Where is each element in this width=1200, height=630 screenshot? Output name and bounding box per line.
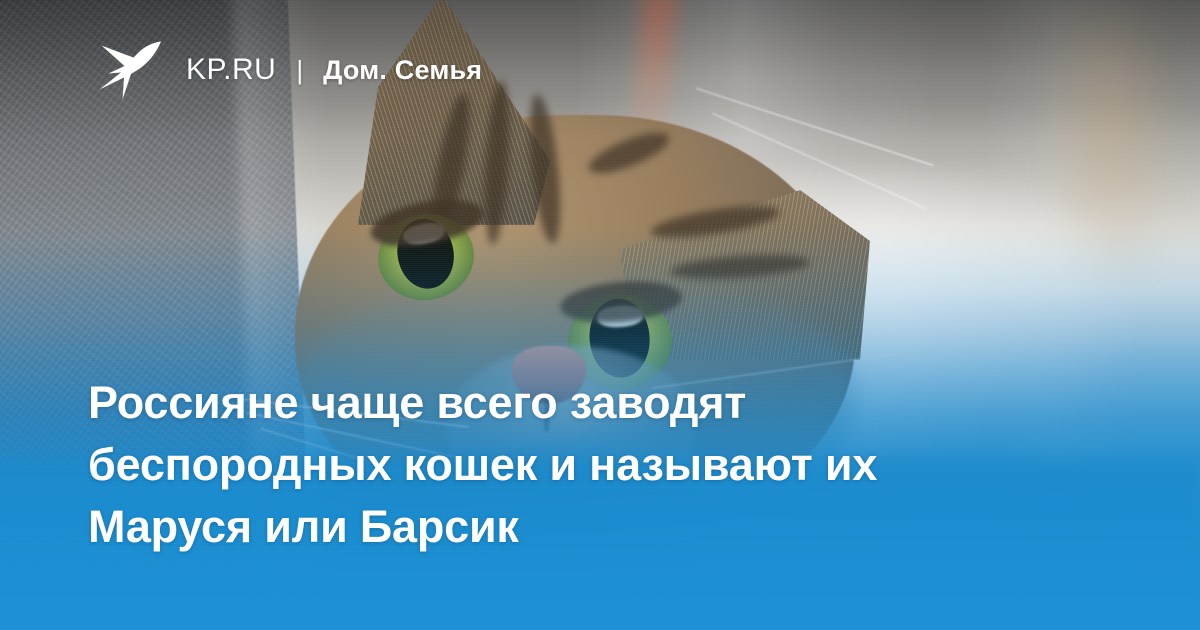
headline-line-1: Россияне чаще всего заводят	[88, 372, 1158, 434]
brand-row: KP.RU | Дом. Семья	[186, 53, 482, 87]
headline: Россияне чаще всего заводят беспородных …	[88, 372, 1158, 558]
swallow-bird-logo-icon[interactable]	[98, 39, 162, 101]
headline-line-3: Маруся или Барсик	[88, 496, 1158, 558]
card-header: KP.RU | Дом. Семья	[0, 0, 1200, 140]
brand-name[interactable]: KP.RU	[186, 53, 276, 87]
share-card: KP.RU | Дом. Семья Россияне чаще всего з…	[0, 0, 1200, 630]
brand-section-name[interactable]: Дом. Семья	[323, 55, 482, 86]
brand-separator: |	[296, 55, 303, 86]
headline-line-2: беспородных кошек и называют их	[88, 434, 1158, 496]
